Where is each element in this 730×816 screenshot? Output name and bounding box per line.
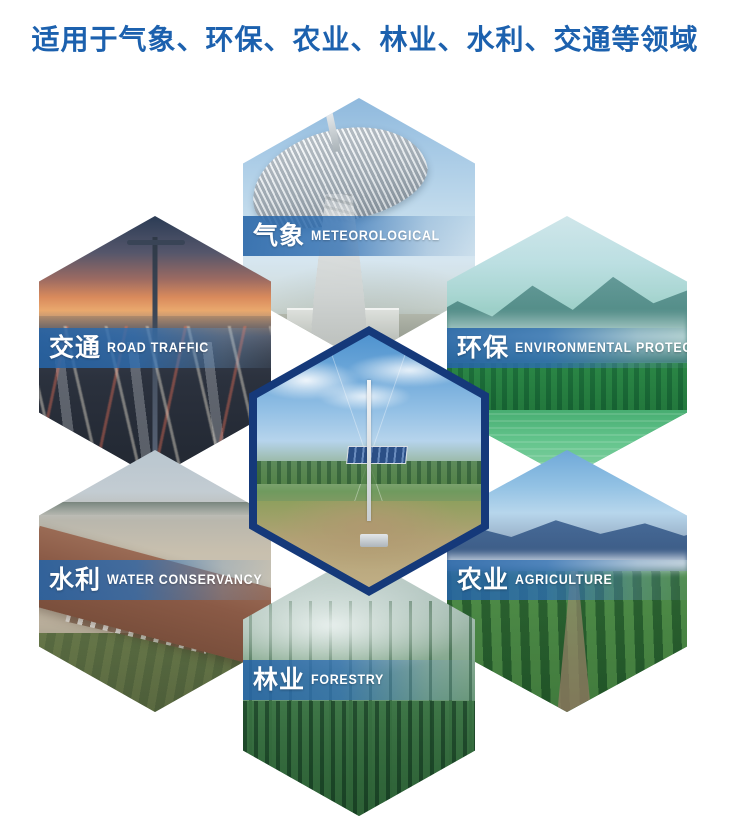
water-conservancy-label-band: 水利 WATER CONSERVANCY — [39, 560, 271, 600]
hex-cell-forestry[interactable]: 林业 FORESTRY — [243, 554, 475, 816]
water-conservancy-label-cn: 水利 — [49, 568, 101, 593]
agriculture-label-en: AGRICULTURE — [515, 573, 613, 587]
forestry-label-band: 林业 FORESTRY — [243, 660, 475, 700]
hexagon-grid: 气象 METEOROLOGICAL 交通 ROAD TRAFFIC 环保 ENV… — [0, 70, 730, 816]
environmental-protection-label-band: 环保 ENVIRONMENTAL PROTECTION — [447, 328, 687, 368]
road-traffic-label-cn: 交通 — [49, 336, 101, 361]
road-traffic-label-band: 交通 ROAD TRAFFIC — [39, 328, 271, 368]
environmental-protection-label-cn: 环保 — [457, 336, 509, 361]
weather-station-photo — [257, 335, 481, 587]
meteorological-label-en: METEOROLOGICAL — [311, 229, 440, 243]
meteorological-label-cn: 气象 — [253, 224, 305, 249]
agriculture-label-band: 农业 AGRICULTURE — [447, 560, 687, 600]
road-traffic-label-en: ROAD TRAFFIC — [107, 341, 209, 355]
weather-station-inner — [257, 335, 481, 587]
forestry-label-cn: 林业 — [253, 668, 305, 693]
water-conservancy-label-en: WATER CONSERVANCY — [107, 573, 262, 587]
agriculture-label-cn: 农业 — [457, 568, 509, 593]
forestry-label-en: FORESTRY — [311, 673, 384, 687]
hex-cell-water-conservancy[interactable]: 水利 WATER CONSERVANCY — [39, 450, 271, 712]
hex-cell-road-traffic[interactable]: 交通 ROAD TRAFFIC — [39, 216, 271, 478]
environmental-protection-label-en: ENVIRONMENTAL PROTECTION — [515, 341, 687, 355]
page-title: 适用于气象、环保、农业、林业、水利、交通等领域 — [0, 18, 730, 58]
meteorological-label-band: 气象 METEOROLOGICAL — [243, 216, 475, 256]
hex-cell-meteorological[interactable]: 气象 METEOROLOGICAL — [243, 98, 475, 360]
